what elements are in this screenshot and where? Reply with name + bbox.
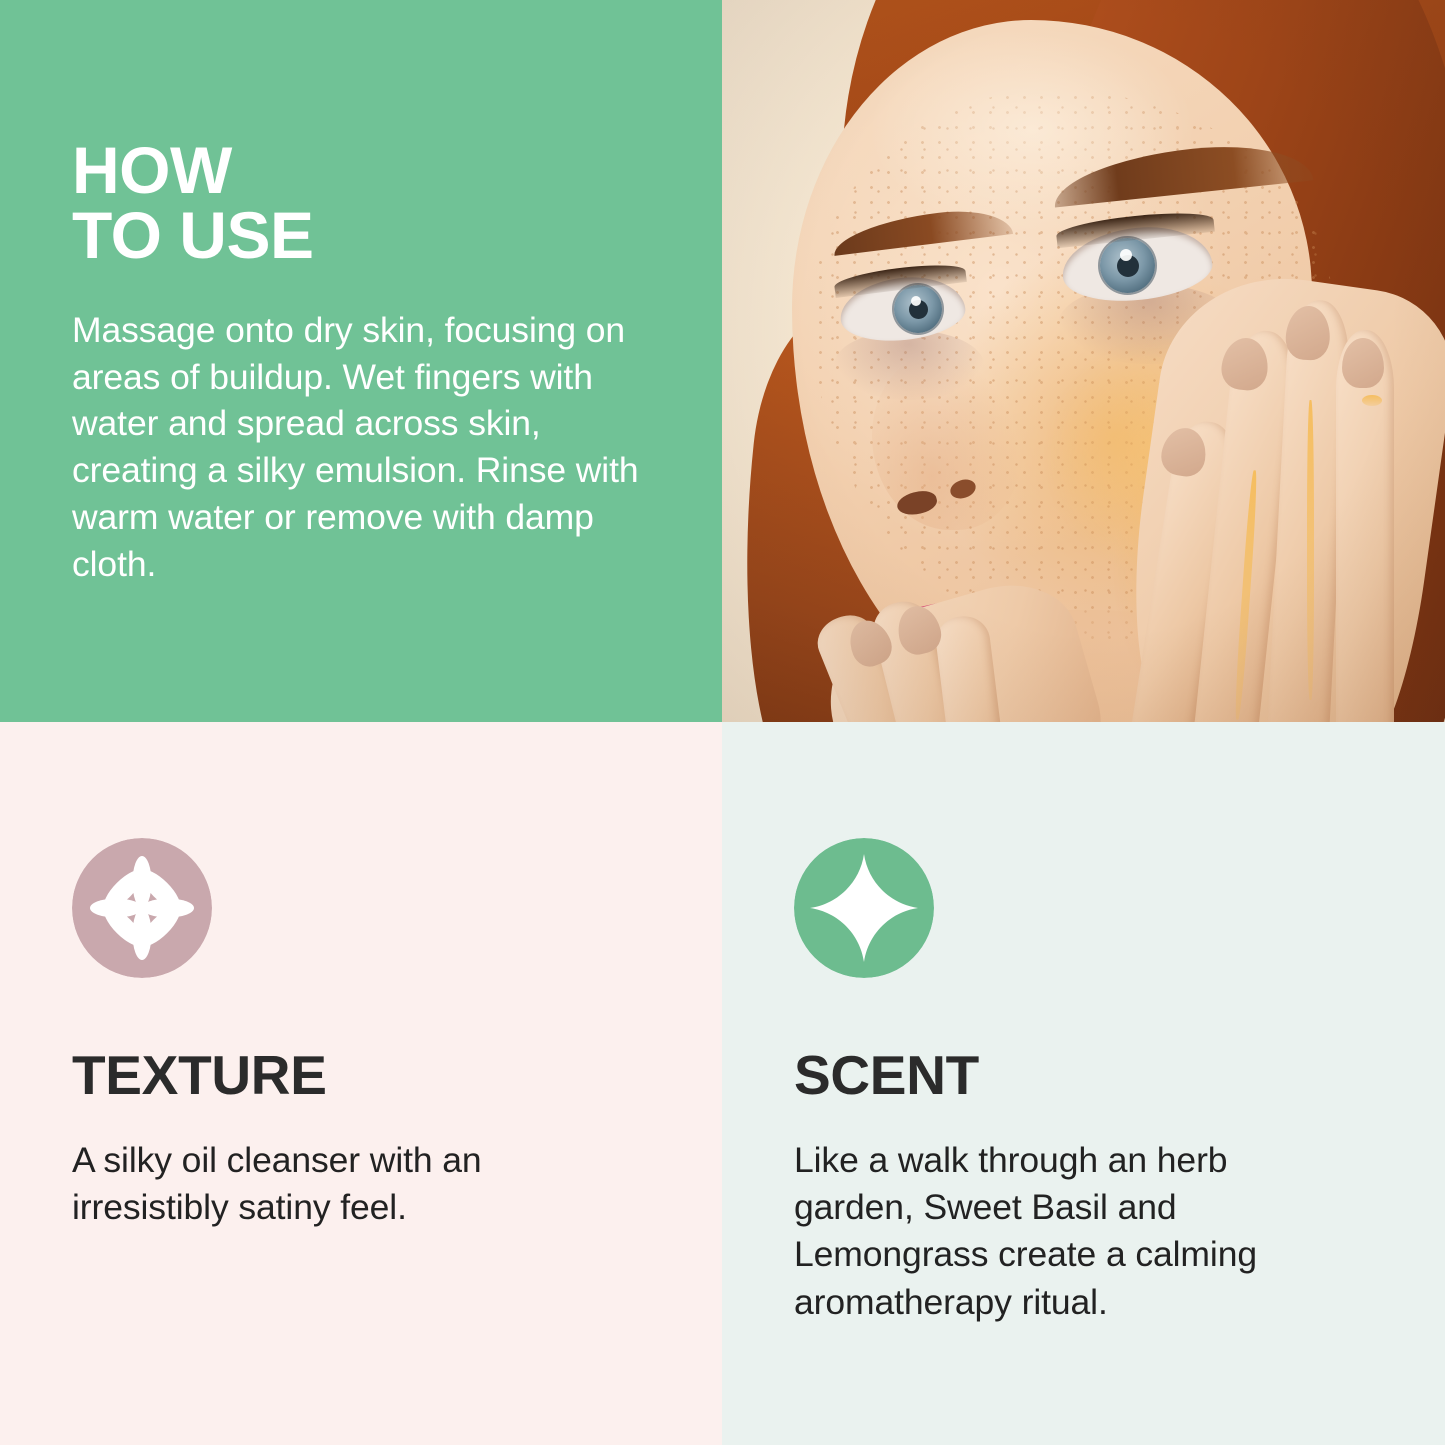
scent-content: SCENT Like a walk through an herb garden… (794, 838, 1354, 1326)
how-to-use-content: HOW TO USE Massage onto dry skin, focusi… (72, 138, 662, 588)
how-to-use-body: Massage onto dry skin, focusing on areas… (72, 307, 652, 588)
texture-body: A silky oil cleanser with an irresistibl… (72, 1137, 542, 1231)
texture-heading: TEXTURE (72, 1048, 632, 1103)
scent-heading: SCENT (794, 1048, 1354, 1103)
texture-content: TEXTURE A silky oil cleanser with an irr… (72, 838, 632, 1231)
photo-vignette (722, 0, 1445, 722)
model-photo-panel (722, 0, 1445, 722)
how-to-use-title: HOW TO USE (72, 138, 662, 269)
flower-icon (72, 838, 212, 978)
how-to-use-panel: HOW TO USE Massage onto dry skin, focusi… (0, 0, 722, 722)
texture-panel: TEXTURE A silky oil cleanser with an irr… (0, 722, 722, 1445)
scent-panel: SCENT Like a walk through an herb garden… (722, 722, 1445, 1445)
product-detail-infographic: HOW TO USE Massage onto dry skin, focusi… (0, 0, 1445, 1445)
model-photo-image (722, 0, 1445, 722)
scent-body: Like a walk through an herb garden, Swee… (794, 1137, 1324, 1326)
sparkle-icon (794, 838, 934, 978)
